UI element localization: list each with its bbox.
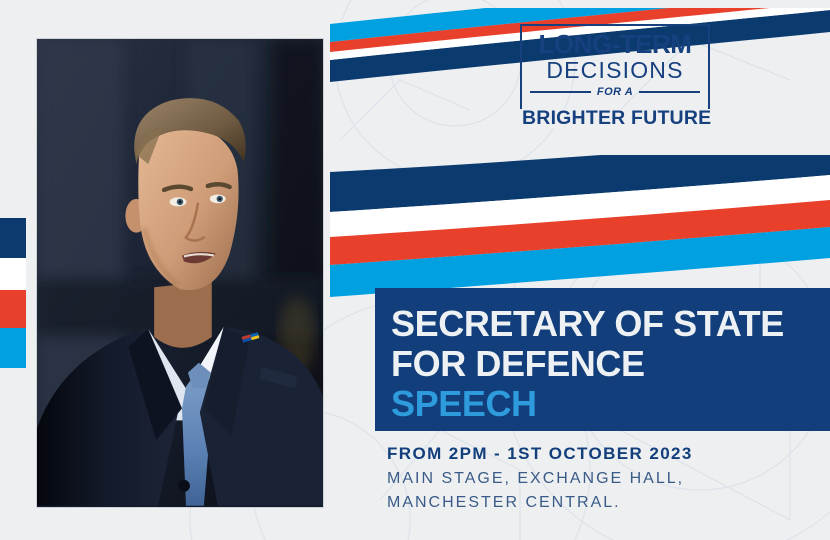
ribbon-band-navy [330, 155, 830, 212]
speaker-photo-image [37, 39, 323, 506]
logo-rule-left [530, 91, 591, 93]
ribbon-band-light-blue [330, 227, 830, 297]
title-line-3: SPEECH [391, 384, 830, 424]
ribbon-band-red [0, 290, 26, 328]
logo-rule-right [639, 91, 700, 93]
middle-ribbon-graphic [322, 155, 830, 305]
ribbon-band-navy [0, 218, 26, 258]
campaign-logo: LONG-TERM DECISIONS FOR A BRIGHTER FUTUR… [520, 24, 710, 129]
logo-line-1: LONG-TERM [530, 31, 700, 57]
title-text-block: SECRETARY OF STATE FOR DEFENCE SPEECH [375, 288, 830, 424]
event-datetime: FROM 2PM - 1ST OCTOBER 2023 [387, 441, 693, 467]
left-edge-ribbon [0, 218, 26, 368]
event-details: FROM 2PM - 1ST OCTOBER 2023 MAIN STAGE, … [387, 441, 693, 515]
title-band: SECRETARY OF STATE FOR DEFENCE SPEECH [375, 288, 830, 431]
event-venue-line-2: MANCHESTER CENTRAL. [387, 491, 693, 515]
poster-canvas: LONG-TERM DECISIONS FOR A BRIGHTER FUTUR… [0, 0, 830, 540]
title-line-2: FOR DEFENCE [391, 344, 830, 384]
logo-line-3: BRIGHTER FUTURE [520, 109, 713, 129]
logo-line-2: DECISIONS [530, 57, 700, 83]
event-venue-line-1: MAIN STAGE, EXCHANGE HALL, [387, 467, 693, 491]
speaker-photo [36, 38, 324, 508]
ribbon-band-white [330, 175, 830, 237]
ribbon-band-red [330, 200, 830, 265]
ribbon-band-white [0, 258, 26, 290]
title-line-1: SECRETARY OF STATE [391, 304, 830, 344]
ribbon-band-light-blue [0, 328, 26, 368]
logo-box: LONG-TERM DECISIONS FOR A [520, 24, 710, 111]
logo-connector: FOR A [597, 86, 633, 98]
logo-connector-row: FOR A [530, 86, 700, 98]
